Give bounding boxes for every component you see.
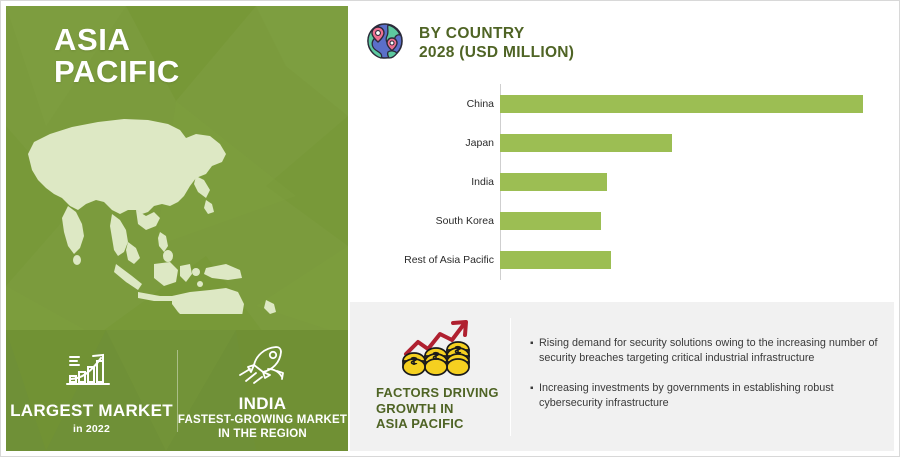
stat-largest-market-title: LARGEST MARKET (10, 401, 173, 420)
bar-row: India (364, 168, 880, 196)
region-panel: ASIA PACIFIC (6, 6, 348, 451)
factors-vertical-divider (510, 318, 511, 436)
factor-bullet-item: ▪Increasing investments by governments i… (530, 381, 878, 412)
globe-with-location-pins-icon (364, 20, 406, 67)
bullet-marker-icon: ▪ (530, 381, 539, 396)
factors-heading-label: FACTORS DRIVING GROWTH IN ASIA PACIFIC (372, 385, 507, 432)
bar-chart: ChinaJapanIndiaSouth KoreaRest of Asia P… (364, 84, 880, 280)
factors-bullet-list: ▪Rising demand for security solutions ow… (530, 336, 878, 425)
bullet-marker-icon: ▪ (530, 336, 539, 351)
rocket-launch-icon (234, 343, 292, 390)
chart-subtitle: 2028 (USD MILLION) (419, 44, 574, 62)
coins-growth-arrow-icon (398, 363, 482, 380)
bar-value (500, 134, 672, 152)
factor-bullet-item: ▪Rising demand for security solutions ow… (530, 336, 878, 367)
infographic-root: ASIA PACIFIC (0, 0, 900, 457)
chart-title: BY COUNTRY (419, 25, 574, 43)
bar-row: Rest of Asia Pacific (364, 246, 880, 274)
bar-value (500, 95, 863, 113)
region-title: ASIA PACIFIC (54, 24, 180, 88)
factor-bullet-text: Increasing investments by governments in… (539, 381, 878, 412)
bar-category-label: China (364, 98, 500, 110)
stat-largest-market-note: in 2022 (73, 423, 110, 435)
bar-value (500, 212, 601, 230)
bar-category-label: South Korea (364, 215, 500, 227)
stat-largest-market: LARGEST MARKET in 2022 (6, 346, 177, 435)
bar-category-label: Japan (364, 137, 500, 149)
bar-category-label: Rest of Asia Pacific (364, 254, 500, 266)
stat-fastest-growing-subtitle: FASTEST-GROWING MARKET IN THE REGION (177, 414, 348, 442)
factors-heading-block: FACTORS DRIVING GROWTH IN ASIA PACIFIC (372, 316, 507, 432)
asia-pacific-map-icon (20, 114, 338, 314)
stat-fastest-growing-market: INDIA FASTEST-GROWING MARKET IN THE REGI… (177, 339, 348, 442)
factors-panel: FACTORS DRIVING GROWTH IN ASIA PACIFIC ▪… (350, 302, 894, 451)
bar-row: South Korea (364, 207, 880, 235)
factor-bullet-text: Rising demand for security solutions owi… (539, 336, 878, 367)
bar-value (500, 173, 607, 191)
bar-row: China (364, 90, 880, 118)
bar-value (500, 251, 611, 269)
bar-category-label: India (364, 176, 500, 188)
chart-header: BY COUNTRY 2028 (USD MILLION) (364, 20, 574, 67)
chart-panel: BY COUNTRY 2028 (USD MILLION) ChinaJapan… (350, 6, 894, 302)
stats-band: LARGEST MARKET in 2022 (6, 330, 348, 451)
bar-row: Japan (364, 129, 880, 157)
stat-fastest-growing-title: INDIA (239, 394, 287, 413)
growth-bar-chart-arrow-icon (65, 350, 119, 397)
